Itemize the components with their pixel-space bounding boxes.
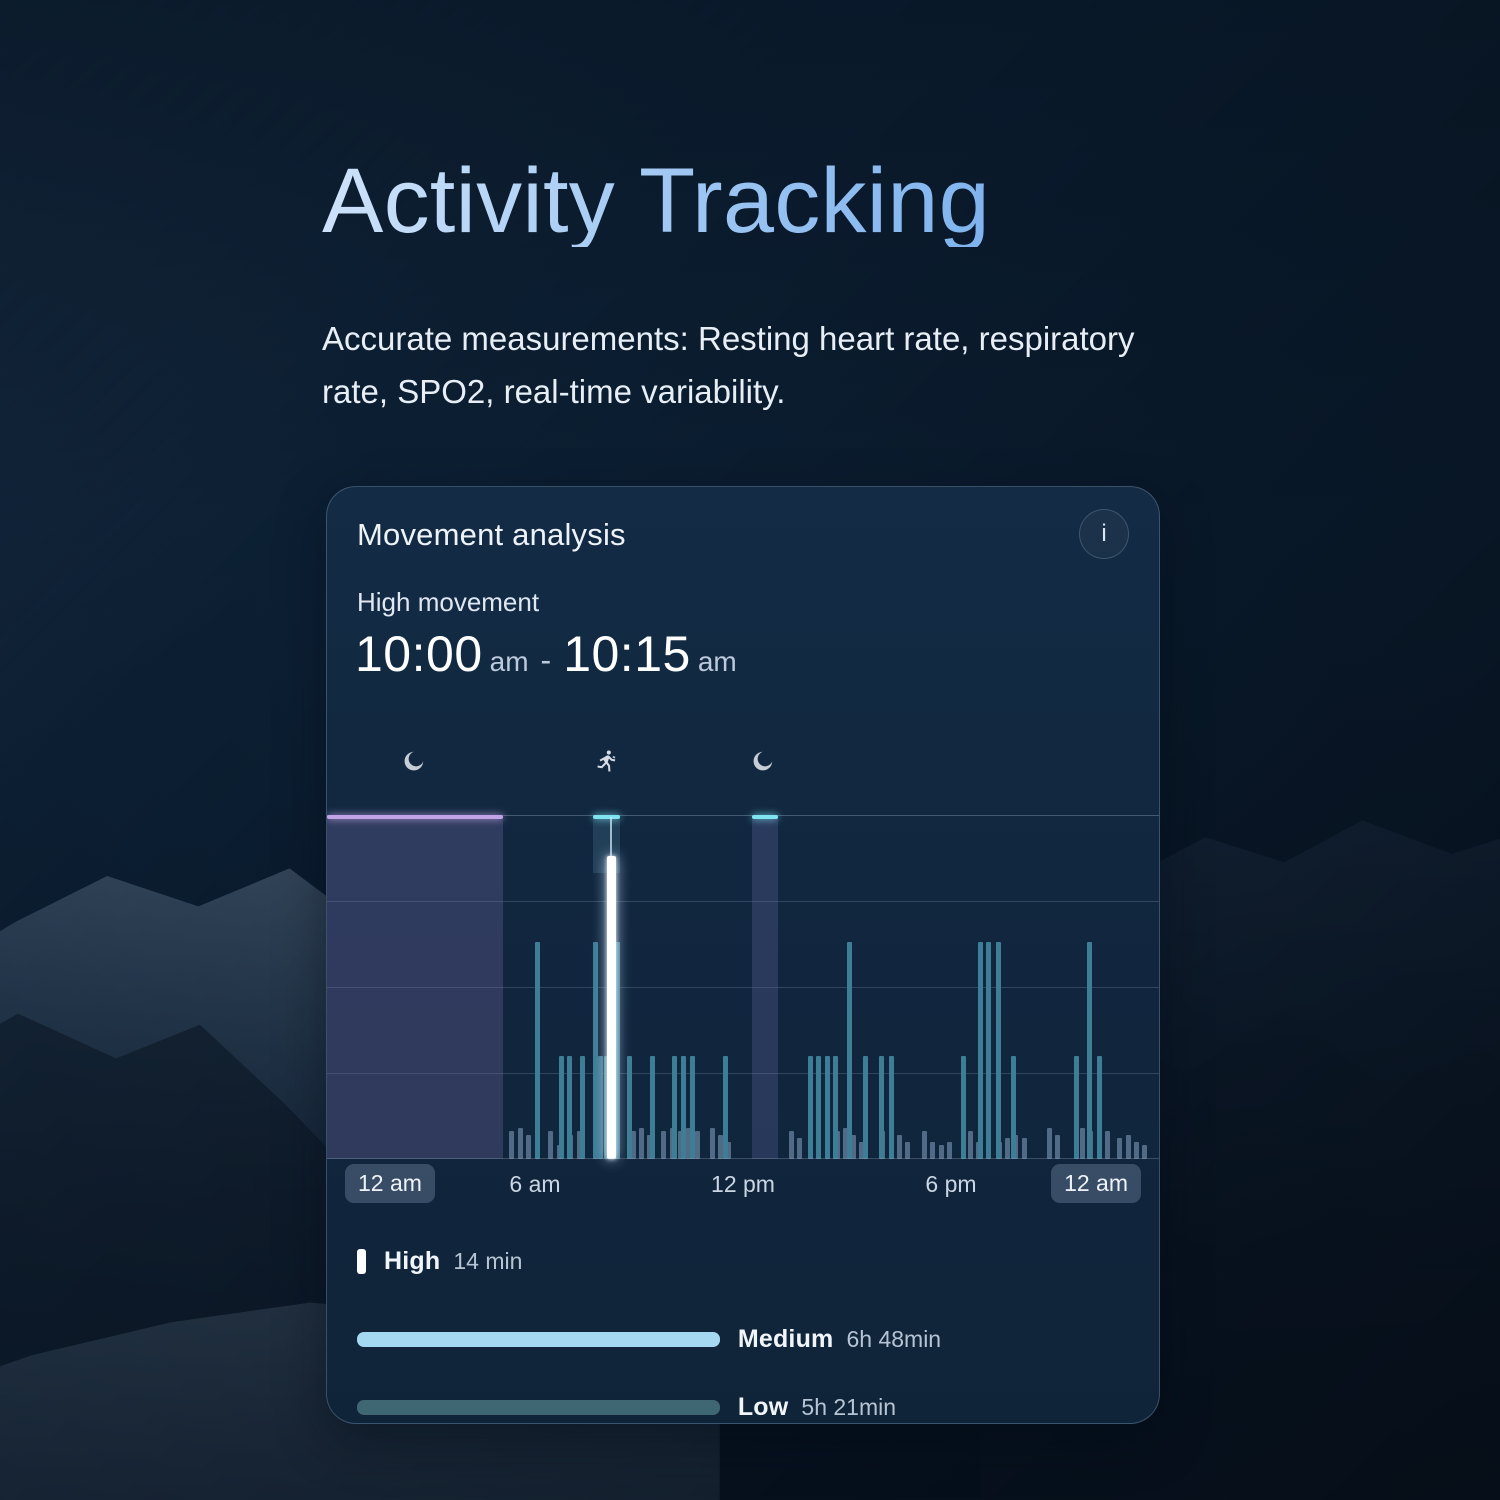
chart-bar-medium xyxy=(598,1056,603,1159)
moon-icon xyxy=(743,741,783,781)
chart-bar-medium xyxy=(978,942,983,1159)
chart-bar-low xyxy=(1134,1142,1139,1159)
movement-analysis-card: Movement analysis i High movement 10:00a… xyxy=(326,486,1160,1424)
chart-bar-medium xyxy=(879,1056,884,1159)
highlight-end-time: 10:15 xyxy=(563,626,691,682)
movement-chart[interactable] xyxy=(327,815,1159,1159)
chart-bar-low xyxy=(1142,1145,1147,1159)
page-title: Activity Tracking xyxy=(322,155,990,247)
running-icon xyxy=(586,741,626,781)
legend-value-low: 5h 21min xyxy=(801,1394,896,1421)
x-axis-label: 6 am xyxy=(509,1171,560,1198)
chart-bar-medium xyxy=(580,1056,585,1159)
chart-bar-low xyxy=(661,1131,666,1159)
chart-bar-medium xyxy=(615,942,620,1159)
chart-bar-medium xyxy=(863,1056,868,1159)
moon-icon xyxy=(394,741,434,781)
chart-bar-low xyxy=(968,1131,973,1159)
x-axis-label: 12 pm xyxy=(711,1171,775,1198)
chart-bar-low xyxy=(1126,1135,1131,1159)
legend-row-medium: Medium 6h 48min xyxy=(357,1319,1129,1359)
chart-baseline xyxy=(327,1158,1159,1159)
x-axis-label: 12 am xyxy=(1051,1164,1141,1203)
chart-bar-medium xyxy=(1011,1056,1016,1159)
chart-bar-medium xyxy=(567,1056,572,1159)
chart-bar-low xyxy=(639,1128,644,1159)
chart-bar-medium xyxy=(1074,1056,1079,1159)
info-icon[interactable]: i xyxy=(1079,509,1129,559)
chart-bar-medium xyxy=(690,1056,695,1159)
chart-bar-medium xyxy=(627,1056,632,1159)
chart-bar-low xyxy=(1047,1128,1052,1159)
chart-bar-low xyxy=(922,1131,927,1159)
chart-bar-low xyxy=(710,1128,715,1159)
chart-bar-low xyxy=(1005,1138,1010,1159)
chart-x-axis: 12 am6 am12 pm6 pm12 am xyxy=(327,1171,1159,1217)
chart-bar-medium xyxy=(825,1056,830,1159)
chart-bar-low xyxy=(905,1142,910,1159)
legend-label-high: High xyxy=(384,1247,440,1276)
chart-bar-medium xyxy=(1087,942,1092,1159)
highlight-start-meridiem: am xyxy=(490,646,529,677)
chart-bar-medium xyxy=(833,1056,838,1159)
legend-value-high: 14 min xyxy=(453,1248,522,1275)
chart-bar-medium xyxy=(961,1056,966,1159)
highlight-end-meridiem: am xyxy=(698,646,737,677)
chart-bar-low xyxy=(947,1142,952,1159)
chart-legend: High 14 min Medium 6h 48min Low 5h 21min xyxy=(357,1241,1129,1424)
chart-bar-low xyxy=(518,1128,523,1159)
chart-band-nap xyxy=(752,815,778,1159)
legend-row-high: High 14 min xyxy=(357,1241,1129,1281)
chart-bar-high-selected[interactable] xyxy=(607,856,616,1159)
highlight-label: High movement xyxy=(357,587,539,618)
chart-bar-medium xyxy=(808,1056,813,1159)
chart-bar-medium xyxy=(723,1056,728,1159)
high-bar-stem xyxy=(610,817,612,858)
highlight-timerange: 10:00am-10:15am xyxy=(355,625,737,683)
chart-bar-medium xyxy=(847,942,852,1159)
chart-bar-medium xyxy=(986,942,991,1159)
band-fill xyxy=(327,815,503,1159)
card-title: Movement analysis xyxy=(357,517,626,553)
x-axis-label: 12 am xyxy=(345,1164,435,1203)
chart-bar-medium xyxy=(681,1056,686,1159)
chart-bar-low xyxy=(1117,1138,1122,1159)
band-cap xyxy=(327,815,503,819)
legend-row-low: Low 5h 21min xyxy=(357,1387,1129,1424)
chart-bar-medium xyxy=(672,1056,677,1159)
legend-label-low: Low xyxy=(738,1393,789,1422)
chart-bar-low xyxy=(1022,1138,1027,1159)
chart-bar-low xyxy=(509,1131,514,1159)
chart-bar-low xyxy=(1055,1135,1060,1159)
chart-bar-medium xyxy=(1097,1056,1102,1159)
highlight-start-time: 10:00 xyxy=(355,626,483,682)
legend-label-medium: Medium xyxy=(738,1325,834,1354)
chart-band-sleep xyxy=(327,815,503,1159)
band-cap xyxy=(752,815,778,819)
chart-bar-medium xyxy=(889,1056,894,1159)
legend-swatch-high xyxy=(357,1249,366,1274)
chart-bar-low xyxy=(1080,1128,1085,1159)
chart-bar-medium xyxy=(996,942,1001,1159)
highlight-separator: - xyxy=(541,642,552,678)
band-cap xyxy=(593,815,620,819)
chart-bar-medium xyxy=(816,1056,821,1159)
legend-value-medium: 6h 48min xyxy=(846,1326,941,1353)
info-glyph: i xyxy=(1101,522,1106,546)
x-axis-label: 6 pm xyxy=(925,1171,976,1198)
marker-icon-row xyxy=(327,741,1159,803)
chart-bar-low xyxy=(897,1135,902,1159)
chart-bar-medium xyxy=(559,1056,564,1159)
chart-bar-low xyxy=(789,1131,794,1159)
chart-bar-low xyxy=(939,1145,944,1159)
chart-bar-medium xyxy=(593,942,598,1159)
chart-bar-medium xyxy=(535,942,540,1159)
chart-bar-medium xyxy=(650,1056,655,1159)
chart-bar-low xyxy=(930,1142,935,1159)
chart-bar-low xyxy=(526,1135,531,1159)
chart-bar-low xyxy=(1105,1131,1110,1159)
chart-bar-low xyxy=(548,1131,553,1159)
band-fill xyxy=(752,815,778,1159)
chart-bar-low xyxy=(797,1138,802,1159)
chart-bar-low xyxy=(695,1131,700,1159)
legend-swatch-medium xyxy=(357,1332,720,1347)
card-header: Movement analysis i xyxy=(357,511,1129,567)
legend-swatch-low xyxy=(357,1400,720,1415)
page-subtitle: Accurate measurements: Resting heart rat… xyxy=(322,312,1162,419)
